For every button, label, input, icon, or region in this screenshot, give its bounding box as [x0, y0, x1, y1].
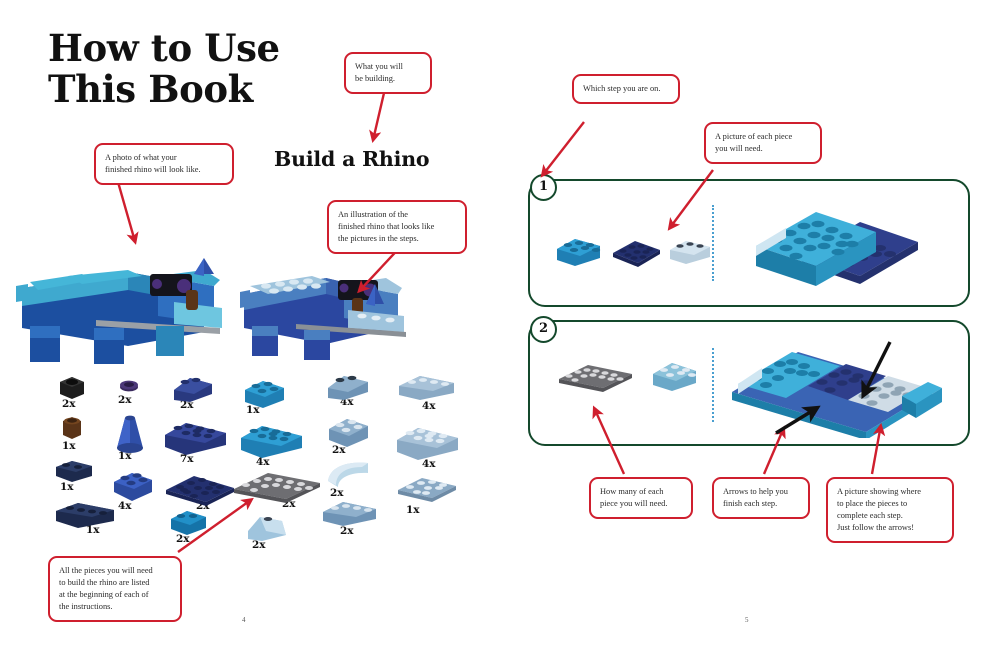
- part-brick-teal-1x2: [166, 505, 212, 537]
- part-brick-steel-2x2: [324, 412, 374, 448]
- callout-line: Which step you are on.: [583, 83, 669, 95]
- callout-line: finished rhino will look like.: [105, 164, 223, 176]
- part-slope-navy-2x2: [168, 370, 218, 404]
- callout-line: An illustration of the: [338, 209, 456, 221]
- rhino-illustration: [234, 250, 424, 365]
- callout-line: A photo of what your: [105, 152, 223, 164]
- illustration-callout: An illustration of the finished rhino th…: [327, 200, 467, 254]
- arrows-callout: Arrows to help you finish each step.: [712, 477, 810, 519]
- step2-part-plate-gray-2x8: [554, 358, 638, 392]
- part-brick-teal-2x4: [236, 418, 308, 460]
- how-many-callout: How many of each piece you will need.: [589, 477, 693, 519]
- which-step-callout: Which step you are on.: [572, 74, 680, 104]
- building-callout: What you will be building.: [344, 52, 432, 94]
- callout-line: the instructions.: [59, 601, 171, 613]
- page-title-line1: How to Use: [48, 28, 280, 69]
- photo-callout: A photo of what your finished rhino will…: [94, 143, 234, 185]
- right-page-number: 5: [745, 616, 749, 624]
- step-badge-2: 2: [530, 316, 557, 343]
- part-slope-lightblue-1x3: [242, 509, 294, 543]
- pieces-list-callout: All the pieces you will need to build th…: [48, 556, 182, 622]
- step-1-build-image: [742, 198, 932, 294]
- part-brick-teal-2x2: [240, 374, 290, 408]
- step-badge-1: 1: [530, 174, 557, 201]
- part-brick-navy-1x4: [52, 497, 118, 529]
- callout-line: How many of each: [600, 486, 682, 498]
- part-round-brick-black-1x1: [56, 374, 88, 400]
- callout-line: finished rhino that looks like: [338, 221, 456, 233]
- part-plate-gray-2x8: [228, 465, 326, 503]
- part-round-brick-brown-1x1: [58, 414, 86, 442]
- callout-line: piece you will need.: [600, 498, 682, 510]
- placement-callout: A picture showing where to place the pie…: [826, 477, 954, 543]
- callout-line: A picture of each piece: [715, 131, 811, 143]
- left-page-number: 4: [242, 616, 246, 624]
- callout-line: finish each step.: [723, 498, 799, 510]
- spread-page: How to Use This Book Build a Rhino: [0, 0, 1000, 647]
- part-brick-steel-2x4-b: [392, 420, 464, 462]
- part-slope-steel-2x2: [322, 368, 374, 402]
- step-2-build-image: [722, 330, 952, 438]
- step1-part-brick-lightblue-1x4: [666, 234, 714, 266]
- callout-line: A picture showing where: [837, 486, 943, 498]
- callout-line: you will need.: [715, 143, 811, 155]
- part-curve-lightblue-1x3: [322, 457, 376, 491]
- callout-line: Just follow the arrows!: [837, 522, 943, 534]
- step2-part-brick-steel-2x4: [648, 356, 702, 392]
- part-brick-steel-1x4: [318, 496, 382, 528]
- callout-line: All the pieces you will need: [59, 565, 171, 577]
- which-step-callout-arrow: [545, 122, 584, 172]
- part-qty: 1x: [406, 504, 420, 516]
- callout-line: be building.: [355, 73, 421, 85]
- part-cone-blue-2x2: [112, 412, 148, 456]
- callout-line: the pictures in the steps.: [338, 233, 456, 245]
- part-brick-navy-2x4: [160, 415, 232, 457]
- piece-picture-callout: A picture of each piece you will need.: [704, 122, 822, 164]
- part-brick-navy-1x2: [52, 455, 96, 483]
- rhino-photo: [8, 228, 238, 368]
- callout-line: What you will: [355, 61, 421, 73]
- step-2-divider: [712, 348, 714, 422]
- page-title-line2: This Book: [48, 69, 280, 110]
- callout-line: Arrows to help you: [723, 486, 799, 498]
- part-brick-blue-2x2: [110, 466, 156, 504]
- callout-line: at the beginning of each of: [59, 589, 171, 601]
- part-plate-steel-2x4: [392, 470, 462, 504]
- callout-line: complete each step.: [837, 510, 943, 522]
- step1-part-brick-teal-2x4: [552, 232, 606, 266]
- building-callout-arrow: [374, 93, 384, 136]
- build-a-rhino-heading: Build a Rhino: [274, 147, 429, 171]
- step1-part-plate-navy-4x4: [608, 234, 664, 268]
- callout-line: to place the pieces to: [837, 498, 943, 510]
- page-title: How to Use This Book: [48, 28, 280, 111]
- part-stud-purple-1x1: [116, 376, 142, 396]
- callout-line: to build the rhino are listed: [59, 577, 171, 589]
- part-brick-steel-1x4-b: [394, 370, 460, 402]
